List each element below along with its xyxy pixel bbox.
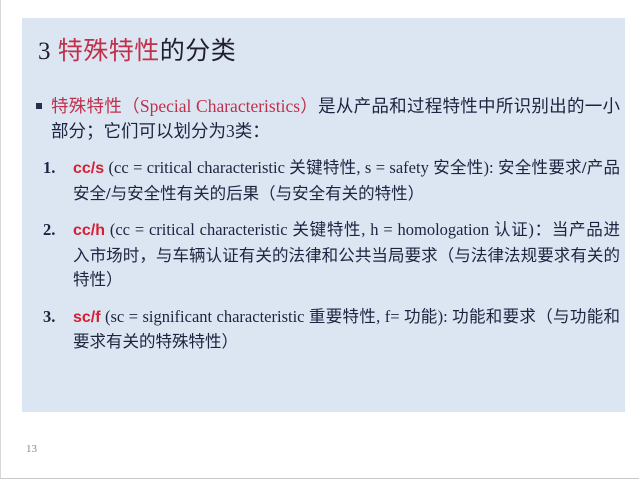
list-item: 3.sc/f (sc = significant characteristic … bbox=[32, 305, 620, 355]
list-item: 1.cc/s (cc = critical characteristic 关键特… bbox=[32, 156, 620, 206]
list-item-definition: (sc = significant characteristic 重要特性, f… bbox=[101, 307, 453, 326]
square-bullet-icon bbox=[36, 103, 42, 109]
slide-canvas: 3 特殊特性的分类 特殊特性（Special Characteristics）是… bbox=[22, 18, 625, 412]
list-item-body-a: 安全性要求 bbox=[498, 158, 582, 177]
list-item-marker: 1. bbox=[43, 156, 55, 181]
list-item-definition: (cc = critical characteristic 关键特性, h = … bbox=[105, 220, 552, 239]
list-item-code: cc/h bbox=[73, 222, 105, 239]
list-item-definition: (cc = critical characteristic 关键特性, s = … bbox=[104, 158, 498, 177]
body-content: 特殊特性（Special Characteristics）是从产品和过程特性中所… bbox=[32, 94, 620, 355]
numbered-list: 1.cc/s (cc = critical characteristic 关键特… bbox=[32, 156, 620, 355]
title-highlight: 特殊特性 bbox=[58, 38, 160, 65]
list-item-code: sc/f bbox=[73, 309, 101, 326]
title-tail: 的分类 bbox=[160, 38, 237, 65]
bullet-highlight: 特殊特性（Special Characteristics） bbox=[51, 96, 318, 116]
list-item-code: cc/s bbox=[73, 160, 104, 177]
list-item-body-c: 与安全性有关的后果（与安全有关的特性） bbox=[111, 184, 425, 203]
list-item-marker: 3. bbox=[43, 305, 55, 330]
list-item: 2.cc/h (cc = critical characteristic 关键特… bbox=[32, 218, 620, 293]
page-title: 3 特殊特性的分类 bbox=[38, 36, 236, 68]
list-item-marker: 2. bbox=[43, 218, 55, 243]
slide-root: 3 特殊特性的分类 特殊特性（Special Characteristics）是… bbox=[0, 0, 640, 480]
page-number: 13 bbox=[26, 443, 37, 455]
bullet-paragraph: 特殊特性（Special Characteristics）是从产品和过程特性中所… bbox=[32, 94, 620, 144]
title-number: 3 bbox=[38, 38, 58, 65]
